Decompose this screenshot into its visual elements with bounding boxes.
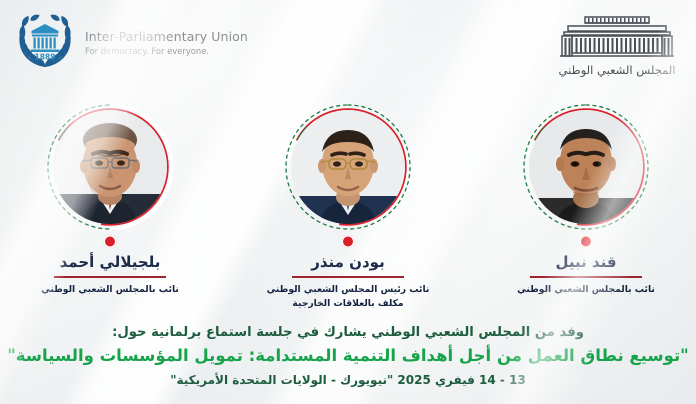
ipu-year-text: 1889 xyxy=(35,53,56,62)
member-name: بودن منذر xyxy=(260,254,436,271)
member-role: نائب بالمجلس الشعبي الوطني xyxy=(498,283,674,296)
apn-name-arabic-wrapper: المجلس الشعبي الوطني xyxy=(554,61,680,77)
member-divider xyxy=(54,276,166,278)
apn-name-arabic: المجلس الشعبي الوطني xyxy=(558,61,676,77)
member-photo-image xyxy=(291,110,405,224)
member-photo xyxy=(291,110,405,224)
apn-logo: المجلس الشعبي الوطني xyxy=(554,12,680,77)
poster-canvas: 1889 Inter-Parliamentary Union For democ… xyxy=(0,0,696,404)
location-pin-marker-icon xyxy=(580,235,593,248)
algerian-parliament-building-emblem-icon xyxy=(557,12,677,60)
member-card: بلجيلالي أحمد نائب بالمجلس الشعبي الوطني xyxy=(22,96,198,310)
member-card: قند نبيل نائب بالمجلس الشعبي الوطني xyxy=(498,96,674,310)
location-pin-marker-icon xyxy=(342,235,355,248)
ipu-title: Inter-Parliamentary Union xyxy=(85,30,248,44)
member-photo xyxy=(529,110,643,224)
member-divider xyxy=(292,276,404,278)
ipu-wordmark: Inter-Parliamentary Union For democracy.… xyxy=(85,28,248,56)
member-name: بلجيلالي أحمد xyxy=(22,254,198,271)
location-pin-marker-icon xyxy=(104,235,117,248)
member-photo xyxy=(53,110,167,224)
member-card: بودن منذر نائب رئيس المجلس الشعبي الوطني… xyxy=(260,96,436,310)
poster-header: 1889 Inter-Parliamentary Union For democ… xyxy=(0,0,696,92)
member-divider xyxy=(530,276,642,278)
member-portrait-frame xyxy=(515,96,657,238)
caption-line-1: وفد من المجلس الشعبي الوطني يشارك في جلس… xyxy=(0,323,696,343)
ipu-logo: 1889 Inter-Parliamentary Union For democ… xyxy=(14,14,248,70)
member-portrait-frame xyxy=(277,96,419,238)
ipu-wreath-emblem-icon: 1889 xyxy=(14,14,76,70)
member-role: نائب بالمجلس الشعبي الوطني xyxy=(22,283,198,296)
event-caption: وفد من المجلس الشعبي الوطني يشارك في جلس… xyxy=(0,323,696,390)
caption-line-2: "توسيع نطاق العمل من أجل أهداف التنمية ا… xyxy=(0,343,696,369)
member-name: قند نبيل xyxy=(498,254,674,271)
member-role: نائب رئيس المجلس الشعبي الوطني مكلف بالع… xyxy=(260,283,436,310)
ipu-tagline: For democracy. For everyone. xyxy=(85,46,248,57)
member-photo-image xyxy=(53,110,167,224)
member-photo-image xyxy=(529,110,643,224)
apn-name-text: المجلس الشعبي الوطني xyxy=(559,63,676,77)
delegation-members: بلجيلالي أحمد نائب بالمجلس الشعبي الوطني xyxy=(0,96,696,310)
member-portrait-frame xyxy=(39,96,181,238)
caption-line-3: 13 - 14 فيفري 2025 "نيويورك - الولايات ا… xyxy=(0,371,696,390)
